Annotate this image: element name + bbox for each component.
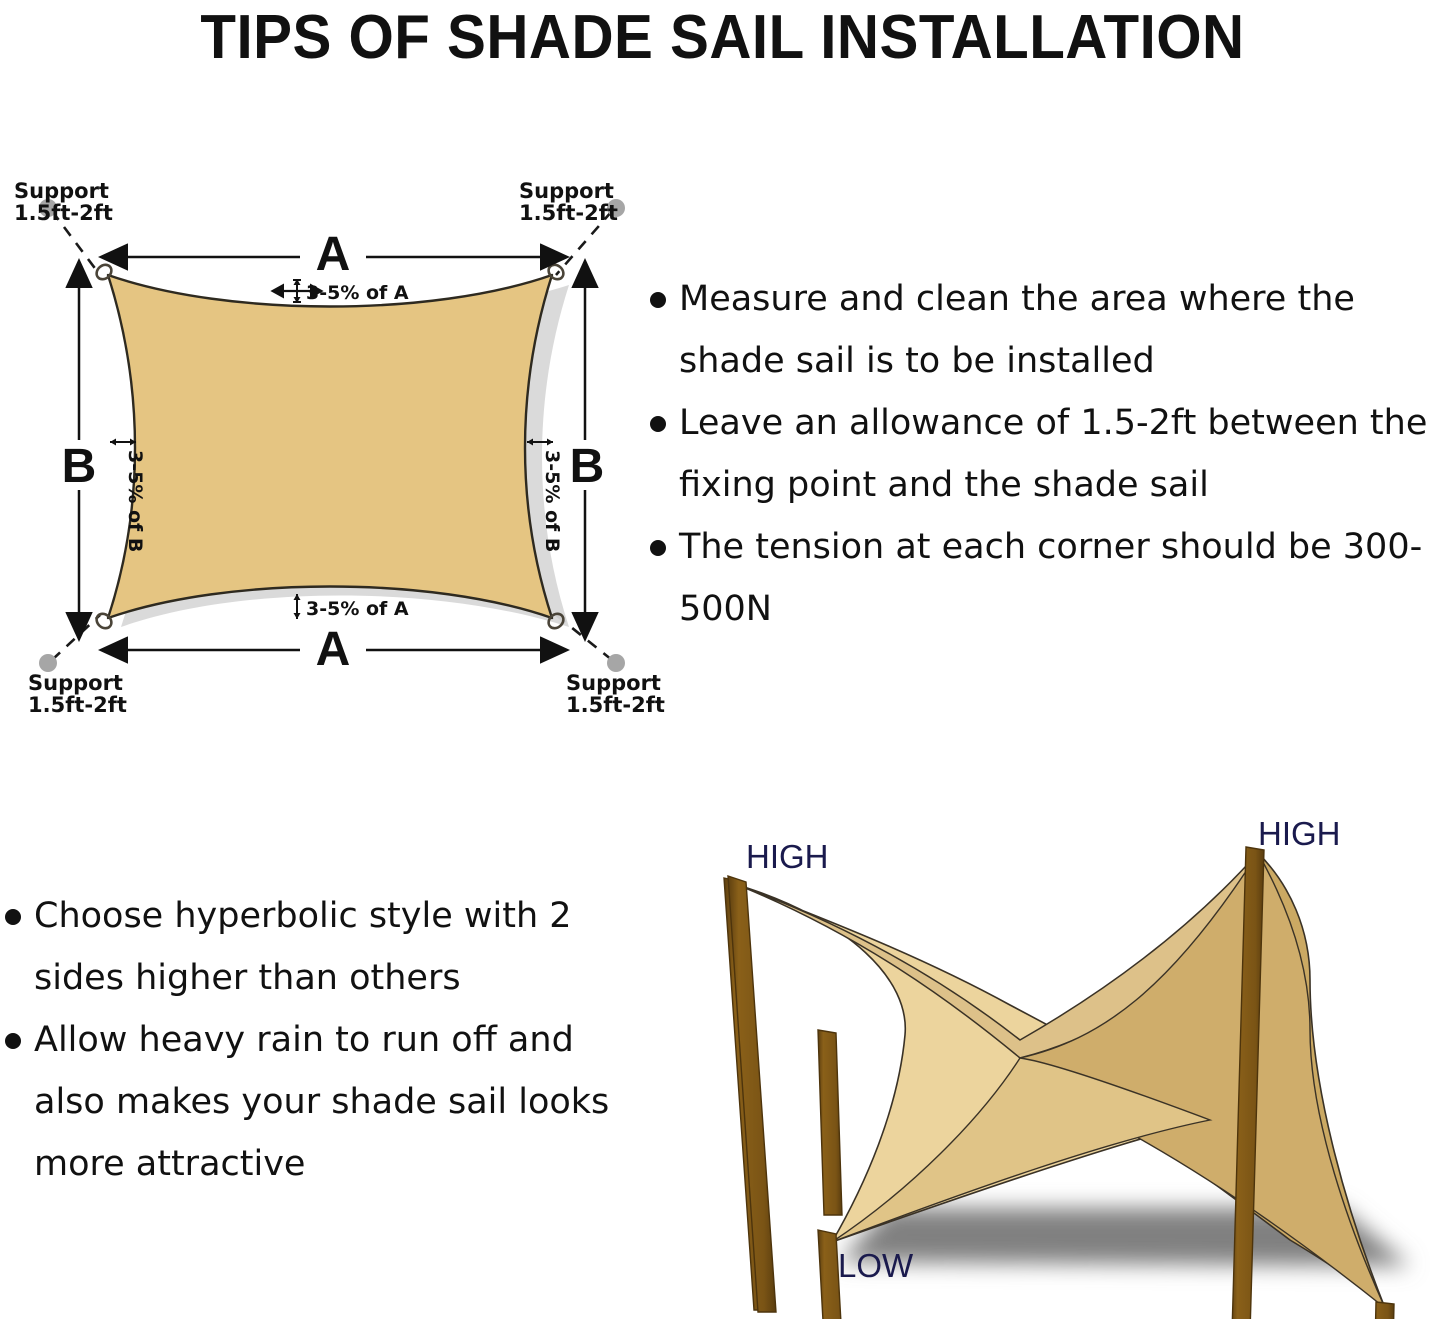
label-high-right-text: HIGH [1258, 815, 1341, 852]
list-item: Allow heavy rain to run off and also mak… [5, 1009, 630, 1195]
svg-text:A: A [316, 228, 351, 281]
list-item-label: Allow heavy rain to run off and also mak… [34, 1009, 630, 1195]
bullet-dot-icon [650, 292, 666, 308]
list-item-label: The tension at each corner should be 300… [679, 516, 1445, 640]
svg-text:B: B [62, 440, 97, 493]
dimension-B-right: B [570, 288, 605, 612]
dimension-A-bottom: A [128, 623, 540, 676]
svg-text:3-5% of B: 3-5% of B [124, 450, 146, 552]
curve-label-top: 3-5% of A [284, 279, 409, 304]
list-item-label: Measure and clean the area where the sha… [679, 268, 1445, 392]
rectangular-sail-diagram: A 3-5% of A A 3-5% of [0, 160, 660, 730]
label-high-left-text: HIGH [746, 838, 829, 875]
support-label-bottom-left: Support 1.5ft-2ft [28, 672, 127, 716]
support-label-value: 1.5ft-2ft [519, 202, 618, 224]
support-label-value: 1.5ft-2ft [566, 694, 665, 716]
support-label-top-right: Support 1.5ft-2ft [519, 180, 618, 224]
support-label-value: 1.5ft-2ft [14, 202, 113, 224]
curve-label-bottom: 3-5% of A [294, 594, 409, 620]
list-item: The tension at each corner should be 300… [650, 516, 1445, 640]
list-item: Measure and clean the area where the sha… [650, 268, 1445, 392]
bullet-dot-icon [650, 416, 666, 432]
dimension-A-top: A [128, 228, 540, 281]
list-item-label: Choose hyperbolic style with 2 sides hig… [34, 885, 630, 1009]
svg-text:A: A [316, 623, 351, 676]
list-item: Leave an allowance of 1.5-2ft between th… [650, 392, 1445, 516]
svg-text:3-5% of B: 3-5% of B [541, 450, 563, 552]
curve-label-left: 3-5% of B [110, 439, 146, 553]
label-low-left-text: LOW [838, 1247, 914, 1284]
hyperbolic-sail-diagram: HIGH HIGH LOW LOW [650, 790, 1445, 1319]
dimension-B-left: B [62, 288, 97, 612]
support-label-text: Support [519, 180, 618, 202]
bullet-dot-icon [650, 540, 666, 556]
bullet-dot-icon [5, 1033, 21, 1049]
infographic-page: TIPS OF SHADE SAIL INSTALLATION [0, 0, 1445, 1319]
svg-text:B: B [570, 440, 605, 493]
post-low-left [818, 1030, 842, 1215]
bullet-dot-icon [5, 909, 21, 925]
shade-sail-shape [108, 275, 552, 618]
support-label-bottom-right: Support 1.5ft-2ft [566, 672, 665, 716]
page-title: TIPS OF SHADE SAIL INSTALLATION [43, 2, 1401, 73]
top-tips-list: Measure and clean the area where the sha… [650, 268, 1445, 640]
bottom-tips-list: Choose hyperbolic style with 2 sides hig… [5, 885, 630, 1195]
post-low-right [1370, 1302, 1394, 1319]
svg-text:3-5% of A: 3-5% of A [306, 282, 409, 304]
support-label-text: Support [14, 180, 113, 202]
support-label-value: 1.5ft-2ft [28, 694, 127, 716]
list-item: Choose hyperbolic style with 2 sides hig… [5, 885, 630, 1009]
support-label-text: Support [28, 672, 127, 694]
support-label-top-left: Support 1.5ft-2ft [14, 180, 113, 224]
svg-text:3-5% of A: 3-5% of A [306, 598, 409, 620]
list-item-label: Leave an allowance of 1.5-2ft between th… [679, 392, 1445, 516]
support-label-text: Support [566, 672, 665, 694]
